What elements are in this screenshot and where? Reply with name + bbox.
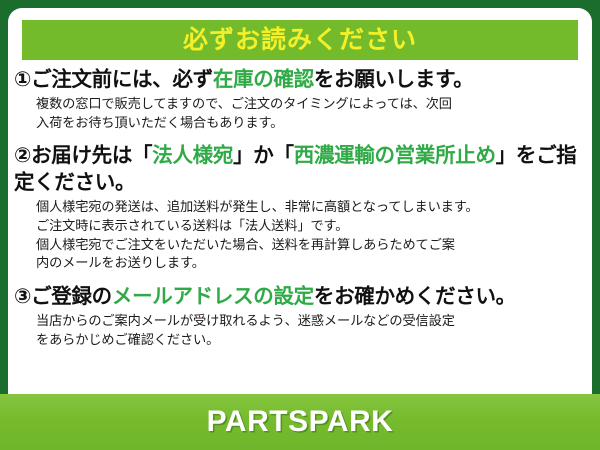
notice-item-1-subtext-line-2: 入荷をお待ち頂いただく場合もあります。 <box>36 114 582 133</box>
notice-item-3-subtext-line-1: 当店からのご案内メールが受け取れるよう、迷惑メールなどの受信設定 <box>36 312 582 331</box>
notice-item-2-head-highlight-1: 法人様宛 <box>152 144 233 167</box>
notice-item-2-subtext: 個人様宅宛の発送は、追加送料が発生し、非常に高額となってしまいます。 ご注文時に… <box>36 198 582 273</box>
notice-item-1-head-part-1: ご注文前には、必ず <box>31 68 213 91</box>
notice-item-2-heading: ②お届け先は「法人様宛」か「西濃運輸の営業所止め」をご指定ください。 <box>14 142 582 197</box>
notice-item-2-subtext-line-1: 個人様宅宛の発送は、追加送料が発生し、非常に高額となってしまいます。 <box>36 198 582 217</box>
brand-logo-partspark: PARTSPARK <box>207 407 394 437</box>
notice-item-2-subtext-line-2: ご注文時に表示されている送料は「法人送料」です。 <box>36 217 582 236</box>
notice-item-3-heading: ③ご登録のメールアドレスの設定をお確かめください。 <box>14 283 582 310</box>
notice-item-1-subtext: 複数の窓口で販売してますので、ご注文のタイミングによっては、次回 入荷をお待ち頂… <box>36 95 582 132</box>
notice-item-3-subtext: 当店からのご案内メールが受け取れるよう、迷惑メールなどの受信設定 をあらかじめご… <box>36 312 582 349</box>
notice-item-3-head-highlight: メールアドレスの設定 <box>112 285 314 308</box>
notice-item-2: ②お届け先は「法人様宛」か「西濃運輸の営業所止め」をご指定ください。 個人様宅宛… <box>14 142 582 273</box>
notice-item-1-head-part-3: をお願いします。 <box>314 68 474 91</box>
notice-content: ①ご注文前には、必ず在庫の確認をお願いします。 複数の窓口で販売してますので、ご… <box>8 66 592 352</box>
notice-item-2-subtext-line-4: 内のメールをお送りします。 <box>36 254 582 273</box>
footer-brand-band: PARTSPARK <box>0 394 600 450</box>
notice-item-2-marker: ② <box>14 144 31 167</box>
notice-item-3-marker: ③ <box>14 285 31 308</box>
notice-title: 必ずお読みください <box>183 28 417 53</box>
notice-item-3: ③ご登録のメールアドレスの設定をお確かめください。 当店からのご案内メールが受け… <box>14 283 582 350</box>
notice-item-2-head-part-1: お届け先は「 <box>31 144 152 167</box>
notice-item-2-subtext-line-3: 個人様宅宛でご注文をいただいた場合、送料を再計算しあらためてご案 <box>36 236 582 255</box>
notice-item-1-head-highlight: 在庫の確認 <box>213 68 314 91</box>
notice-item-1-subtext-line-1: 複数の窓口で販売してますので、ご注文のタイミングによっては、次回 <box>36 95 582 114</box>
notice-item-2-head-part-3: 」か「 <box>233 144 294 167</box>
notice-item-2-head-part-5: 」 <box>496 144 516 167</box>
notice-item-1: ①ご注文前には、必ず在庫の確認をお願いします。 複数の窓口で販売してますので、ご… <box>14 66 582 133</box>
notice-item-3-subtext-line-2: をあらかじめご確認ください。 <box>36 331 582 350</box>
notice-item-1-heading: ①ご注文前には、必ず在庫の確認をお願いします。 <box>14 66 582 93</box>
notice-item-3-head-part-1: ご登録の <box>31 285 112 308</box>
notice-panel: 必ずお読みください ①ご注文前には、必ず在庫の確認をお願いします。 複数の窓口で… <box>8 8 592 418</box>
notice-item-1-marker: ① <box>14 68 31 91</box>
notice-title-bar: 必ずお読みください <box>22 20 578 60</box>
notice-banner: 必ずお読みください ①ご注文前には、必ず在庫の確認をお願いします。 複数の窓口で… <box>0 0 600 450</box>
notice-item-2-head-highlight-2: 西濃運輸の営業所止め <box>294 144 496 167</box>
notice-item-3-head-part-3: をお確かめください。 <box>314 285 516 308</box>
